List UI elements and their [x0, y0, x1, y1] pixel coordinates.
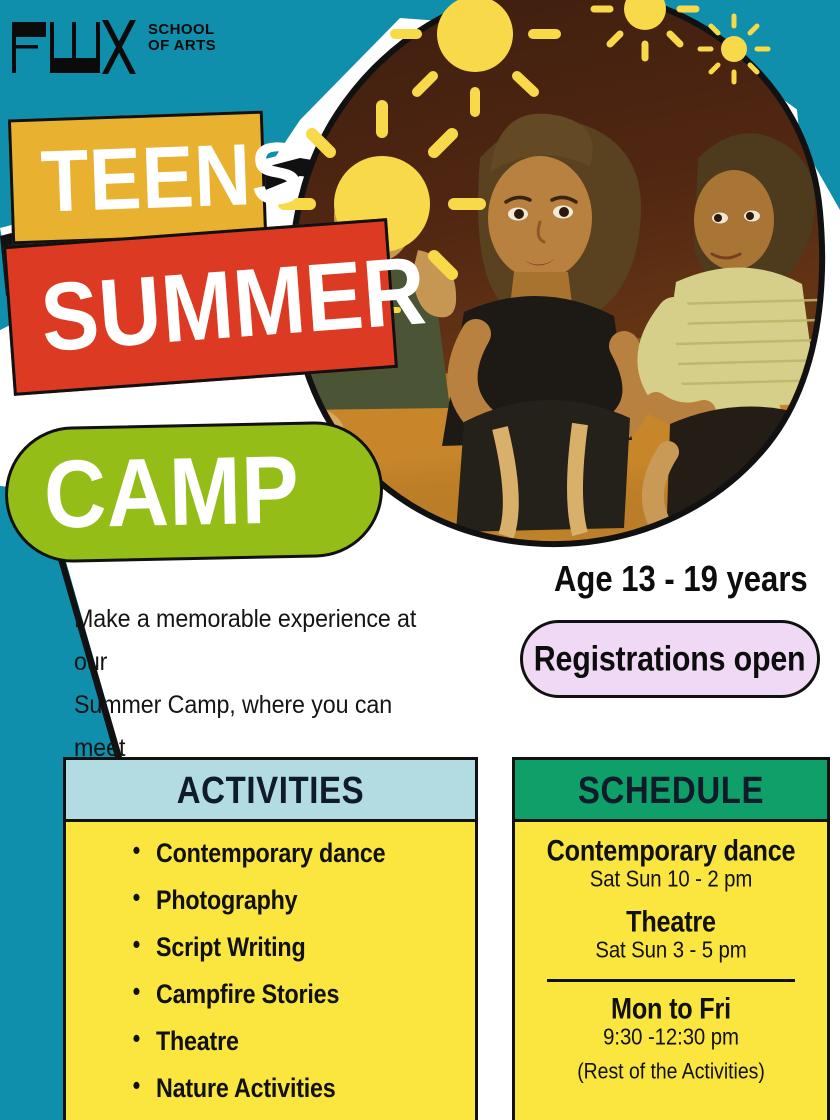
schedule-body: Contemporary dance Sat Sun 10 - 2 pm The… — [515, 822, 827, 1084]
schedule-entry-time: Sat Sun 3 - 5 pm — [529, 937, 812, 966]
schedule-entry-title: Contemporary dance — [529, 834, 812, 867]
list-item: Campfire Stories — [156, 979, 465, 1011]
list-item: Contemporary dance — [156, 838, 465, 870]
age-range-text: Age 13 - 19 years — [554, 558, 808, 600]
poster: SCHOOL OF ARTS — [0, 0, 840, 1120]
schedule-entry-title: Theatre — [529, 905, 812, 938]
brand-tagline: SCHOOL OF ARTS — [148, 18, 216, 54]
schedule-header-label: SCHEDULE — [578, 767, 764, 811]
title-teens-text: TEENS — [40, 128, 305, 224]
title-block-summer: SUMMER — [3, 218, 398, 396]
activities-list: Contemporary dance Photography Script Wr… — [156, 840, 475, 1103]
title-block-teens: TEENS — [8, 111, 267, 245]
schedule-entry-time: Sat Sun 10 - 2 pm — [529, 866, 812, 895]
list-item: Script Writing — [156, 932, 465, 964]
schedule-panel: SCHEDULE Contemporary dance Sat Sun 10 -… — [512, 757, 830, 1120]
list-item: Theatre — [156, 1026, 465, 1058]
list-item: Photography — [156, 885, 465, 917]
title-camp-text: CAMP — [43, 442, 300, 544]
registrations-open-badge[interactable]: Registrations open — [520, 620, 820, 698]
activities-panel: ACTIVITIES Contemporary dance Photograph… — [63, 757, 478, 1120]
list-item: Nature Activities — [156, 1073, 465, 1105]
brand-logo: SCHOOL OF ARTS — [10, 18, 216, 76]
flux-wordmark-icon — [10, 18, 138, 76]
title-summer-text: SUMMER — [38, 242, 429, 366]
schedule-entry-time: 9:30 -12:30 pm — [529, 1023, 812, 1052]
activities-header-label: ACTIVITIES — [177, 767, 365, 811]
intro-line-1: Make a memorable experience at our — [74, 598, 446, 684]
schedule-entry-title: Mon to Fri — [529, 992, 812, 1025]
activities-header: ACTIVITIES — [66, 760, 475, 822]
brand-tagline-line2: OF ARTS — [148, 38, 216, 54]
brand-tagline-line1: SCHOOL — [148, 22, 216, 38]
title-block-camp: CAMP — [4, 420, 385, 564]
registrations-open-label: Registrations open — [534, 638, 806, 679]
schedule-divider — [547, 979, 795, 982]
schedule-header: SCHEDULE — [515, 760, 827, 822]
schedule-note: (Rest of the Activities) — [529, 1060, 812, 1086]
